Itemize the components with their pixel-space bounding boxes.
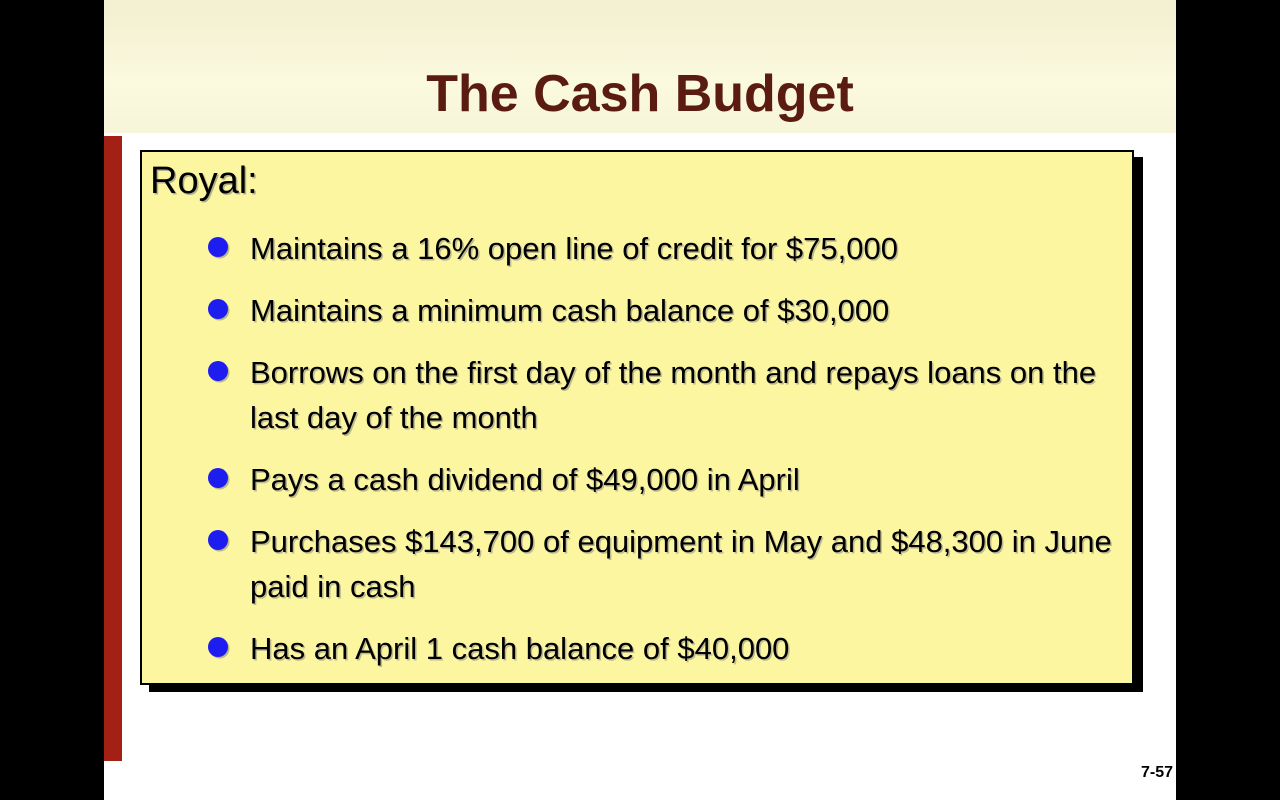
content-box: Royal: Maintains a 16% open line of cred…: [140, 150, 1134, 685]
list-item: Pays a cash dividend of $49,000 in April: [208, 457, 1118, 502]
list-item: Purchases $143,700 of equipment in May a…: [208, 519, 1118, 609]
list-item: Borrows on the first day of the month an…: [208, 350, 1118, 440]
list-item: Has an April 1 cash balance of $40,000: [208, 626, 1118, 671]
content-heading: Royal:: [150, 160, 258, 203]
bullet-dot-icon: [208, 299, 228, 319]
slide-canvas: The Cash Budget Royal: Maintains a 16% o…: [0, 0, 1280, 800]
list-item: Maintains a minimum cash balance of $30,…: [208, 288, 1118, 333]
bullet-dot-icon: [208, 468, 228, 488]
bullet-dot-icon: [208, 237, 228, 257]
page-number: 7-57: [1141, 764, 1173, 782]
page-title: The Cash Budget: [104, 62, 1176, 126]
list-item-label: Maintains a 16% open line of credit for …: [250, 226, 1118, 271]
list-item-label: Borrows on the first day of the month an…: [250, 350, 1118, 440]
list-item-label: Maintains a minimum cash balance of $30,…: [250, 288, 1118, 333]
list-item-label: Pays a cash dividend of $49,000 in April: [250, 457, 1118, 502]
bullet-dot-icon: [208, 530, 228, 550]
accent-bar: [104, 136, 122, 761]
bullet-list: Maintains a 16% open line of credit for …: [208, 226, 1118, 688]
list-item-label: Purchases $143,700 of equipment in May a…: [250, 519, 1118, 609]
list-item: Maintains a 16% open line of credit for …: [208, 226, 1118, 271]
list-item-label: Has an April 1 cash balance of $40,000: [250, 626, 1118, 671]
bullet-dot-icon: [208, 361, 228, 381]
bullet-dot-icon: [208, 637, 228, 657]
